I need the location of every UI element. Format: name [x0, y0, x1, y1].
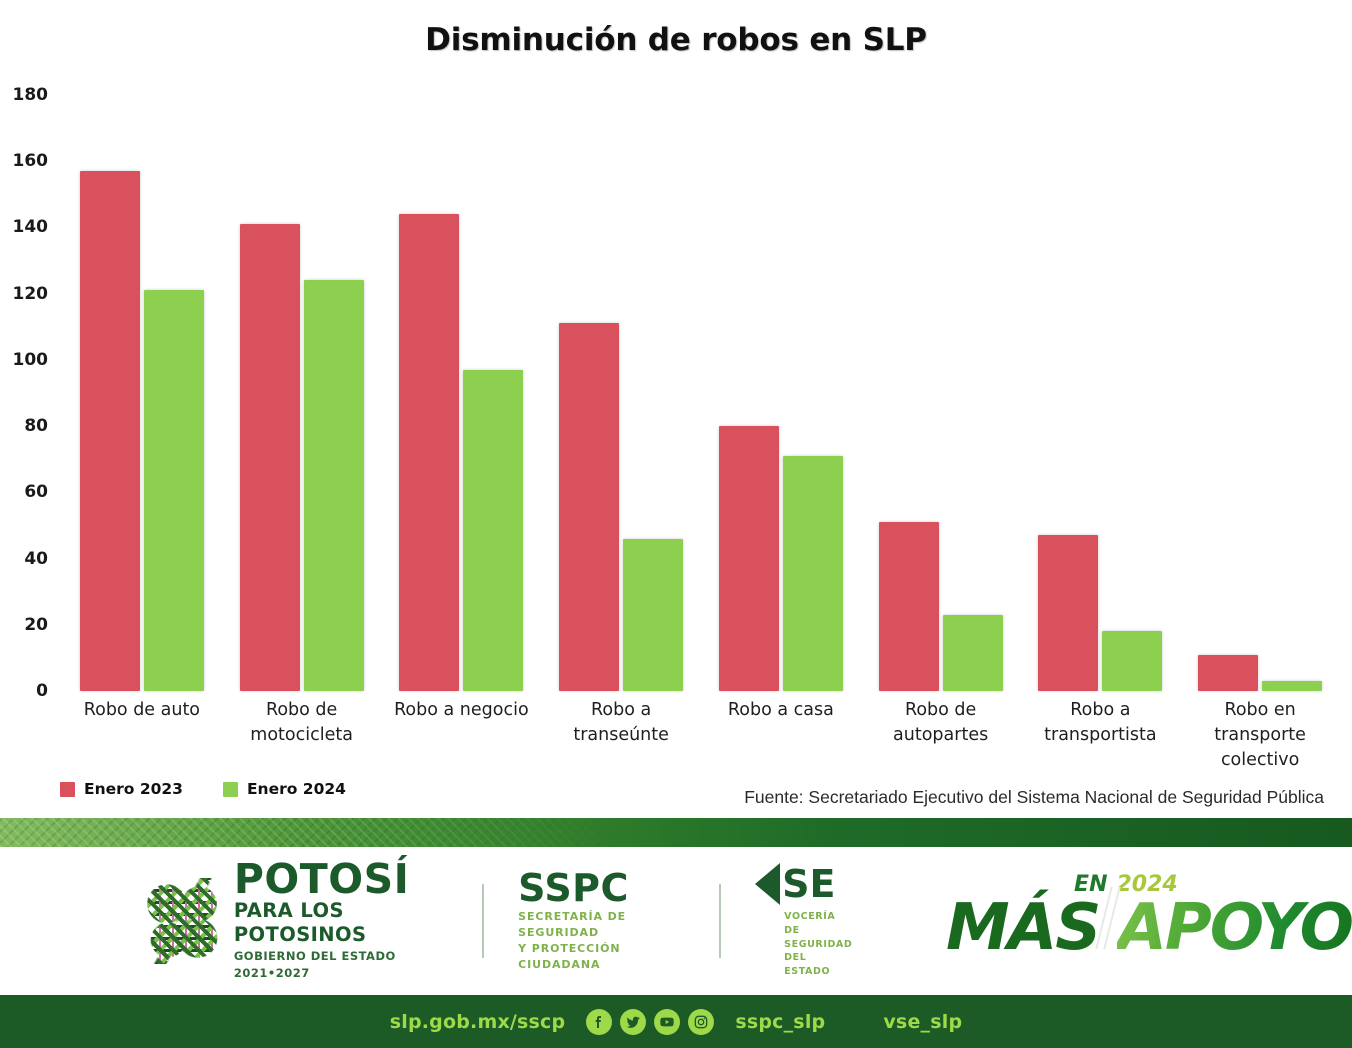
se-sub-line2: DE SEGURIDAD	[784, 924, 856, 952]
sspc-sub-line1: SECRETARÍA DE SEGURIDAD	[518, 909, 685, 941]
se-sub-line1: VOCERÍA	[784, 910, 835, 924]
logo-row: POTOSÍ PARA LOS POTOSINOS GOBIERNO DEL E…	[146, 860, 1352, 983]
infographic-page: Disminución de robos en SLP 180160140120…	[0, 0, 1352, 1048]
y-axis-tick: 80	[0, 416, 48, 436]
legend-swatch	[60, 782, 75, 797]
x-axis-label: Robo de motocicleta	[222, 698, 382, 773]
x-axis-labels: Robo de autoRobo de motocicletaRobo a ne…	[62, 698, 1340, 773]
se-logo: SE VOCERÍA DE SEGURIDAD DEL ESTADO	[755, 863, 856, 979]
potosi-logo: POTOSÍ PARA LOS POTOSINOS GOBIERNO DEL E…	[146, 860, 448, 983]
potosi-sub-text: PARA LOS POTOSINOS	[234, 899, 449, 948]
footer-bar: slp.gob.mx/sscp sspc_slp vse_slp	[0, 995, 1352, 1048]
strip-texture	[0, 818, 620, 847]
sspc-sub-line2: Y PROTECCIÓN CIUDADANA	[518, 941, 685, 973]
potosi-emblem-icon	[146, 878, 220, 964]
bar-group	[382, 95, 542, 691]
x-axis-label: Robo en transporte colectivo	[1180, 698, 1340, 773]
sspc-main-text: SSPC	[518, 869, 685, 909]
footer-handle-sspc[interactable]: sspc_slp	[735, 1011, 825, 1033]
legend-swatch	[223, 782, 238, 797]
x-axis-label: Robo de autopartes	[861, 698, 1021, 773]
bar-2023[interactable]	[399, 214, 459, 691]
bar-2024[interactable]	[1262, 681, 1322, 691]
y-axis-tick: 120	[0, 284, 48, 304]
se-sub-line3: DEL ESTADO	[784, 951, 856, 979]
mas-apoyo-year-lockup: EN 2024	[1074, 872, 1178, 897]
chevron-left-icon	[755, 863, 780, 905]
bar-group	[62, 95, 222, 691]
bar-2023[interactable]	[879, 522, 939, 691]
facebook-icon[interactable]	[586, 1009, 612, 1035]
bar-group	[1180, 95, 1340, 691]
potosi-government-text: GOBIERNO DEL ESTADO 2021•2027	[234, 948, 449, 983]
legend-item[interactable]: Enero 2023	[60, 780, 183, 798]
bar-group	[222, 95, 382, 691]
logo-band: POTOSÍ PARA LOS POTOSINOS GOBIERNO DEL E…	[0, 847, 1352, 995]
logo-divider-1	[482, 884, 484, 958]
x-axis-label: Robo de auto	[62, 698, 222, 773]
mas-apoyo-logo: EN 2024 MÁS APOYO	[946, 881, 1352, 960]
y-axis-tick: 180	[0, 85, 48, 105]
x-axis-label: Robo a negocio	[382, 698, 542, 773]
footer-handle-vse[interactable]: vse_slp	[883, 1011, 962, 1033]
plot-area: 180160140120100806040200	[62, 95, 1340, 691]
twitter-icon[interactable]	[620, 1009, 646, 1035]
social-icon-row	[586, 1009, 714, 1035]
x-axis-label: Robo a casa	[701, 698, 861, 773]
y-axis-tick: 0	[0, 681, 48, 701]
footer-website-url[interactable]: slp.gob.mx/sscp	[390, 1011, 566, 1033]
y-axis-tick: 160	[0, 151, 48, 171]
y-axis-tick: 20	[0, 615, 48, 635]
y-axis-tick: 40	[0, 549, 48, 569]
bar-2023[interactable]	[559, 323, 619, 691]
sspc-logo: SSPC SECRETARÍA DE SEGURIDAD Y PROTECCIÓ…	[518, 869, 685, 973]
chart-card: Disminución de robos en SLP 180160140120…	[0, 0, 1352, 812]
potosi-main-text: POTOSÍ	[234, 860, 449, 899]
legend-label: Enero 2023	[84, 780, 183, 798]
bar-2024[interactable]	[1102, 631, 1162, 691]
mas-apoyo-wordmark: MÁS APOYO	[946, 887, 1352, 960]
bar-group	[861, 95, 1021, 691]
x-axis-label: Robo a transeúnte	[541, 698, 701, 773]
y-axis-tick: 140	[0, 217, 48, 237]
source-note: Fuente: Secretariado Ejecutivo del Siste…	[744, 787, 1324, 808]
se-main-text: SE	[782, 865, 835, 903]
bar-2023[interactable]	[719, 426, 779, 691]
mas-apoyo-year-text: 2024	[1117, 872, 1178, 897]
bar-2024[interactable]	[623, 539, 683, 691]
chart-title: Disminución de robos en SLP	[0, 22, 1352, 58]
bar-2023[interactable]	[240, 224, 300, 691]
chart-legend: Enero 2023Enero 2024	[60, 780, 346, 798]
mas-apoyo-word2: APOYO	[1117, 896, 1352, 960]
y-axis-tick: 100	[0, 350, 48, 370]
x-axis-label: Robo a transportista	[1021, 698, 1181, 773]
mas-apoyo-word1: MÁS	[946, 896, 1099, 960]
legend-label: Enero 2024	[247, 780, 346, 798]
bar-2024[interactable]	[943, 615, 1003, 691]
logo-divider-2	[719, 884, 721, 958]
bar-2024[interactable]	[463, 370, 523, 691]
bar-group	[541, 95, 701, 691]
mas-apoyo-en-text: EN	[1074, 872, 1107, 897]
bar-2024[interactable]	[304, 280, 364, 691]
bar-2024[interactable]	[783, 456, 843, 691]
bar-groups	[62, 95, 1340, 691]
bar-2023[interactable]	[1198, 655, 1258, 691]
bar-group	[701, 95, 861, 691]
bar-2023[interactable]	[80, 171, 140, 691]
instagram-icon[interactable]	[688, 1009, 714, 1035]
decorative-green-strip	[0, 818, 1352, 847]
potosi-wordmark: POTOSÍ PARA LOS POTOSINOS GOBIERNO DEL E…	[234, 860, 449, 983]
se-lockup: SE	[755, 863, 835, 905]
bar-2023[interactable]	[1038, 535, 1098, 691]
youtube-icon[interactable]	[654, 1009, 680, 1035]
bar-2024[interactable]	[144, 290, 204, 691]
legend-item[interactable]: Enero 2024	[223, 780, 346, 798]
y-axis-tick: 60	[0, 482, 48, 502]
bar-group	[1021, 95, 1181, 691]
